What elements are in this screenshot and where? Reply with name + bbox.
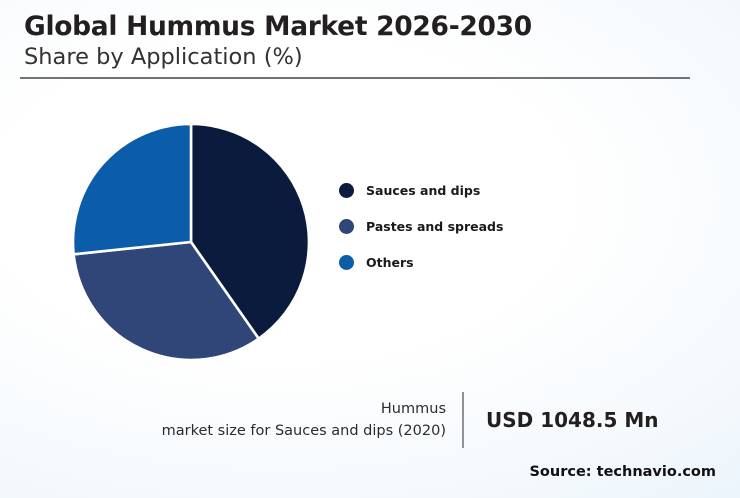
source-label: Source: technavio.com <box>529 464 716 480</box>
title-divider <box>20 77 690 79</box>
legend-item-label: Pastes and spreads <box>366 219 503 234</box>
legend-item-pastes-and-spreads[interactable]: Pastes and spreads <box>339 208 599 244</box>
callout-caption-line2: market size for Sauces and dips (2020) <box>110 420 446 442</box>
pie-slice-group <box>73 124 309 360</box>
page-title: Global Hummus Market 2026-2030 <box>24 12 716 43</box>
legend-swatch-icon <box>339 255 354 270</box>
title-block: Global Hummus Market 2026-2030 Share by … <box>24 12 716 71</box>
legend-item-label: Others <box>366 255 414 270</box>
legend-item-others[interactable]: Others <box>339 244 599 280</box>
page-subtitle: Share by Application (%) <box>24 44 716 71</box>
pie-chart-svg <box>72 123 310 361</box>
pie-slice[interactable] <box>73 124 191 254</box>
chart-legend: Sauces and dips Pastes and spreads Other… <box>339 172 599 280</box>
legend-swatch-icon <box>339 183 354 198</box>
callout-caption-line1: Hummus <box>110 398 446 420</box>
legend-item-label: Sauces and dips <box>366 183 480 198</box>
callout-value: USD 1048.5 Mn <box>464 408 659 432</box>
chart-canvas: Global Hummus Market 2026-2030 Share by … <box>0 0 740 498</box>
pie-chart <box>72 123 310 361</box>
market-size-callout: Hummus market size for Sauces and dips (… <box>110 392 690 448</box>
callout-caption: Hummus market size for Sauces and dips (… <box>110 398 462 443</box>
legend-swatch-icon <box>339 219 354 234</box>
legend-item-sauces-and-dips[interactable]: Sauces and dips <box>339 172 599 208</box>
